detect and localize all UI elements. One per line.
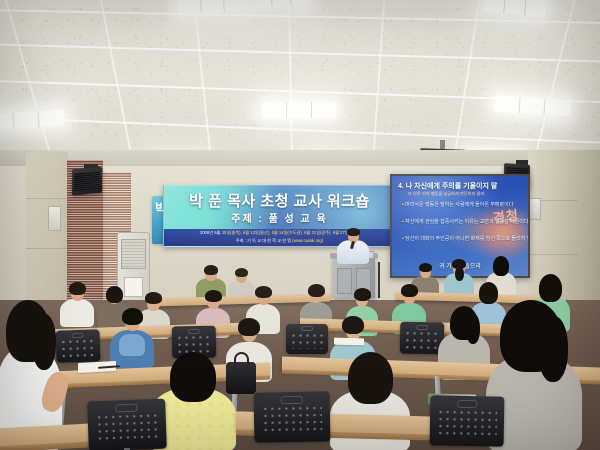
audience-hair bbox=[122, 308, 143, 325]
audience-hair bbox=[342, 316, 364, 334]
audience-hair bbox=[204, 265, 218, 275]
paper-sheet bbox=[334, 338, 364, 346]
audience-hair bbox=[205, 290, 222, 302]
audience-hair bbox=[69, 282, 86, 295]
slide-title: 4. 나 자신에게 주의를 기울이지 말 bbox=[398, 181, 497, 191]
chair[interactable] bbox=[254, 391, 331, 442]
banner-host-prefix: 주최 : 기 독 교 대 한 학 교 연 맹 bbox=[236, 238, 292, 243]
chair[interactable] bbox=[87, 399, 167, 450]
chair-handle bbox=[301, 326, 313, 331]
slide-bullet: ▪ 당신이 대화의 주인공이 아니면 화제를 당신 쪽으로 돌리지 말라 bbox=[402, 235, 528, 242]
banner-host-url: (www.casak.org) bbox=[292, 238, 323, 243]
audience-hair bbox=[401, 284, 418, 297]
audience-hair bbox=[354, 288, 371, 301]
chair-handle bbox=[416, 324, 428, 329]
audience-hair bbox=[348, 352, 393, 404]
audience-hair bbox=[106, 286, 123, 303]
chair-perforations bbox=[290, 332, 324, 349]
chair[interactable] bbox=[55, 329, 100, 363]
slide-bullet: ▪ 자신에게 관심을 집중시키는 이유는 교만과 열등감 때문이다 bbox=[402, 218, 528, 225]
chair-handle bbox=[457, 400, 478, 408]
wall-utility-box-right bbox=[529, 198, 541, 220]
wall-utility-box bbox=[48, 206, 61, 231]
chair-handle bbox=[71, 332, 83, 338]
chair-perforations bbox=[60, 338, 96, 358]
audience-hair bbox=[308, 284, 325, 297]
slide-bullet-text: 자신에게 관심을 집중시키는 이유는 교만과 열등감 때문이다 bbox=[405, 219, 528, 225]
banner-dates-prefix: 2008년 5월 bbox=[200, 230, 222, 235]
audience-shirt-detail bbox=[119, 334, 145, 356]
chair-perforations bbox=[437, 408, 497, 438]
wall-pillar-left bbox=[26, 152, 68, 302]
chair-perforations bbox=[404, 330, 440, 349]
slide-bullet: ▪ 머리서운 행동은 말하는 사람에게 돌아온 부메랑이다 bbox=[402, 201, 513, 208]
ac-vent bbox=[121, 239, 146, 269]
presenter bbox=[336, 226, 370, 262]
banner-subtitle: 주제 : 품 성 교 육 bbox=[164, 210, 395, 225]
audience-ponytail bbox=[538, 316, 568, 382]
chair-handle bbox=[115, 404, 137, 413]
audience-ponytail bbox=[466, 314, 480, 344]
audience-hair bbox=[145, 292, 162, 304]
chair-perforations bbox=[176, 334, 212, 353]
banner-title: 박 푼 목사 초청 교사 워크숍 bbox=[164, 190, 395, 211]
chair-handle bbox=[188, 328, 200, 333]
audience-ponytail bbox=[32, 314, 56, 370]
chair-perforations bbox=[261, 404, 322, 434]
audience-ponytail bbox=[455, 267, 464, 281]
slide-bullet-text: 머리서운 행동은 말하는 사람에게 돌아온 부메랑이다 bbox=[405, 202, 513, 208]
audience-member bbox=[60, 282, 94, 326]
slide-subtitle: 또 다른 이의 행동을 성급하게 판단하지 말라 bbox=[408, 191, 484, 197]
audience-hair bbox=[493, 256, 509, 276]
wall-speaker-left bbox=[72, 167, 102, 196]
audience-hair bbox=[235, 268, 248, 277]
audience-member bbox=[110, 308, 154, 366]
audience-torso bbox=[60, 299, 94, 327]
audience-hair bbox=[170, 352, 216, 402]
wall-corner-right bbox=[578, 150, 600, 320]
handbag-strap bbox=[234, 352, 249, 366]
ceiling-light-panel bbox=[262, 102, 336, 118]
speaker-grille bbox=[74, 171, 99, 192]
chair-handle bbox=[281, 396, 302, 404]
chair[interactable] bbox=[286, 324, 328, 354]
chair[interactable] bbox=[430, 395, 505, 446]
chair-perforations bbox=[95, 412, 158, 443]
audience-hair bbox=[255, 286, 272, 298]
presenter-hair bbox=[347, 228, 360, 236]
microphone-stand bbox=[378, 262, 380, 298]
lecture-hall-photo: 박 박 푼 목사 초청 교사 워크숍 주제 : 품 성 교 육 2008년 5월… bbox=[0, 0, 600, 450]
audience-hair bbox=[539, 274, 562, 302]
audience-hair bbox=[419, 263, 432, 272]
slide-bullet-text: 당신이 대화의 주인공이 아니면 화제를 당신 쪽으로 돌리지 말라 bbox=[405, 236, 528, 242]
audience-hair bbox=[238, 318, 260, 336]
